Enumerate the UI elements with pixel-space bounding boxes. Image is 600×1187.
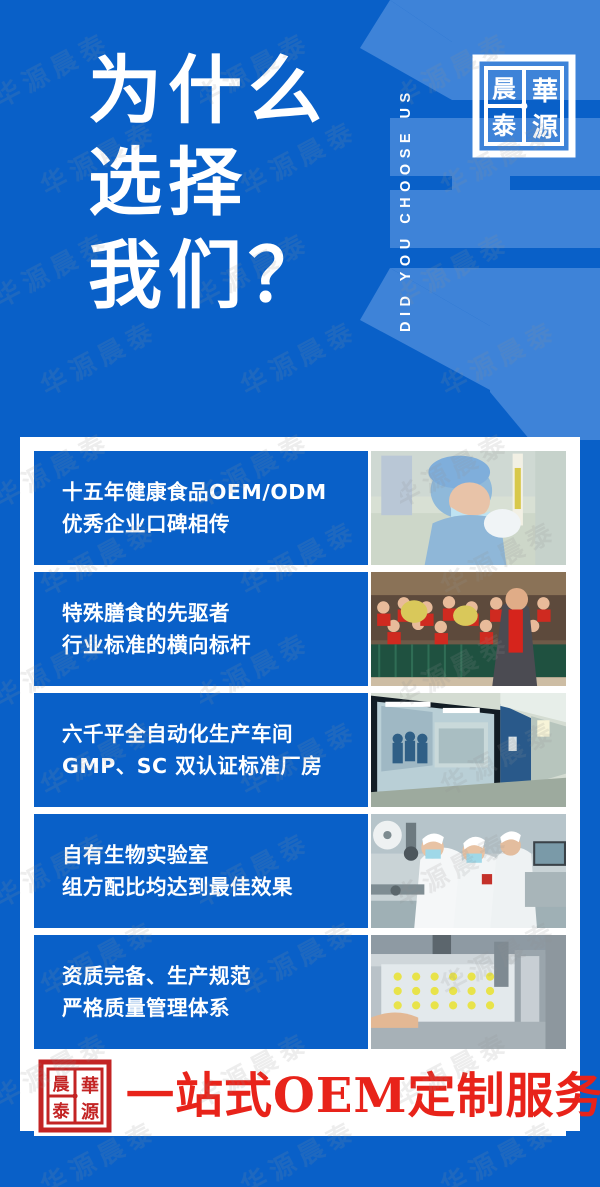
title-line-2: 选择 — [88, 144, 328, 222]
feature-line: 行业标准的横向标杆 — [62, 633, 368, 657]
title-line-1: 为什么 — [88, 52, 328, 130]
company-seal-red-icon: 晨 泰 華 源 — [38, 1059, 112, 1133]
feature-line: 组方配比均达到最佳效果 — [62, 875, 368, 899]
content-frame: 十五年健康食品OEM/ODM 优秀企业口碑相传 — [20, 437, 580, 1131]
feature-card-text: 资质完备、生产规范 严格质量管理体系 — [34, 935, 368, 1049]
feature-card[interactable]: 六千平全自动化生产车间 GMP、SC 双认证标准厂房 — [34, 693, 566, 807]
feature-card-text: 特殊膳食的先驱者 行业标准的横向标杆 — [34, 572, 368, 686]
title-line-3: 我们？ — [88, 237, 328, 315]
cleanroom-corridor-photo — [371, 693, 566, 807]
feature-card[interactable]: 自有生物实验室 组方配比均达到最佳效果 — [34, 814, 566, 928]
feature-line: 六千平全自动化生产车间 — [62, 722, 368, 746]
feature-card-text: 十五年健康食品OEM/ODM 优秀企业口碑相传 — [34, 451, 368, 565]
feature-card-text: 自有生物实验室 组方配比均达到最佳效果 — [34, 814, 368, 928]
production-line-staff-photo — [371, 814, 566, 928]
svg-text:晨: 晨 — [492, 74, 517, 103]
svg-text:晨: 晨 — [53, 1075, 71, 1095]
banner-slogan: 一站式OEM定制服务 — [126, 1072, 600, 1120]
svg-text:華: 華 — [532, 77, 558, 107]
feature-line: GMP、SC 双认证标准厂房 — [62, 754, 368, 778]
feature-card[interactable]: 资质完备、生产规范 严格质量管理体系 — [34, 935, 566, 1049]
feature-card[interactable]: 十五年健康食品OEM/ODM 优秀企业口碑相传 — [34, 451, 566, 565]
company-seal-icon: 晨 泰 華 源 — [472, 54, 576, 158]
feature-card[interactable]: 特殊膳食的先驱者 行业标准的横向标杆 — [34, 572, 566, 686]
feature-line: 十五年健康食品OEM/ODM — [62, 480, 368, 504]
page-title: 为什么 选择 我们？ — [88, 52, 328, 315]
lab-technician-photo — [371, 451, 566, 565]
svg-text:泰: 泰 — [492, 111, 517, 140]
svg-text:源: 源 — [81, 1101, 99, 1123]
conference-audience-photo — [371, 572, 566, 686]
svg-text:泰: 泰 — [53, 1101, 71, 1122]
poster-root: 为什么 选择 我们？ DID YOU CHOOSE US 晨 泰 華 源 — [0, 0, 600, 1187]
feature-card-list: 十五年健康食品OEM/ODM 优秀企业口碑相传 — [34, 451, 566, 1049]
feature-line: 优秀企业口碑相传 — [62, 512, 368, 536]
feature-line: 特殊膳食的先驱者 — [62, 601, 368, 625]
feature-line: 严格质量管理体系 — [62, 996, 368, 1020]
vertical-english-tagline: DID YOU CHOOSE US — [398, 22, 414, 398]
svg-text:源: 源 — [532, 113, 558, 143]
tablet-packaging-machine-photo — [371, 935, 566, 1049]
feature-line: 自有生物实验室 — [62, 843, 368, 867]
svg-text:華: 華 — [81, 1075, 99, 1097]
bottom-banner: 晨 泰 華 源 一站式OEM定制服务 — [34, 1056, 566, 1136]
feature-card-text: 六千平全自动化生产车间 GMP、SC 双认证标准厂房 — [34, 693, 368, 807]
feature-line: 资质完备、生产规范 — [62, 964, 368, 988]
poster-header: 为什么 选择 我们？ DID YOU CHOOSE US 晨 泰 華 源 — [0, 0, 600, 437]
